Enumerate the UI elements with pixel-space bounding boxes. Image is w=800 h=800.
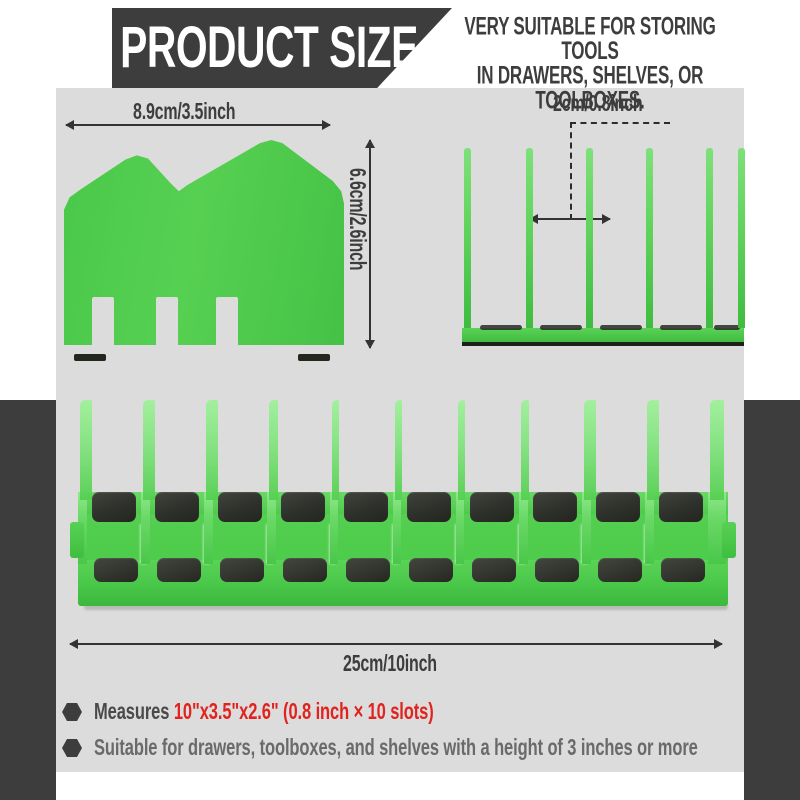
product-upper-pad-3 [218,492,262,522]
product-upper-pad-7 [470,492,514,522]
dark-side-bar-right [744,400,800,800]
front-view-pad-2 [540,325,582,330]
front-view-prong-2 [526,148,533,328]
product-divider-5 [330,492,338,564]
page-title: PRODUCT SIZE [112,0,418,106]
white-margin-top-left [0,0,56,400]
list-item: Measures 10"x3.5"x2.6" (0.8 inch × 10 sl… [62,694,752,730]
product-lower-pad-4 [283,558,327,582]
dimension-group-height: 6.6cm/2.6inch [349,140,409,355]
profile-notch-2 [156,297,178,355]
product-divider-2 [141,492,150,564]
header-subtitle-line-1: VERY SUITABLE FOR STORING TOOLS [436,14,744,63]
product-divider-blade-11 [710,400,724,500]
list-item: Suitable for drawers, toolboxes, and she… [62,730,752,766]
profile-notch-1 [92,297,114,355]
dimension-label-length: 25cm/10inch [343,652,437,678]
profile-notch-3 [216,297,238,355]
hex-bullet-icon [62,739,82,757]
product-upper-pad-8 [533,492,577,522]
product-divider-blade-3 [206,400,218,500]
dimension-label-slot-spacing: 2cm/0.8inch [553,92,642,118]
product-divider-blade-10 [647,400,659,500]
product-lower-pad-6 [409,558,453,582]
product-divider-blade-6 [395,400,402,500]
hex-bullet-icon [62,703,82,721]
leader-line-horizontal [570,122,670,124]
product-divider-6 [393,492,401,564]
dimension-label-width: 8.9cm/3.5inch [133,100,235,126]
product-lower-pad-1 [94,558,138,582]
dark-side-bar-left [0,400,56,800]
feature-bullet-list: Measures 10"x3.5"x2.6" (0.8 inch × 10 sl… [62,694,752,766]
product-divider-blade-5 [332,400,339,500]
dimension-arrow-length [70,643,722,645]
product-end-tab-right [722,522,736,558]
figure-front-view [462,138,744,350]
front-view-prong-1 [464,148,471,328]
front-view-pad-4 [660,325,702,330]
product-upper-pad-9 [596,492,640,522]
front-view-base-rail [462,328,744,342]
dimension-arrow-height [369,140,371,348]
product-divider-blade-9 [584,400,596,500]
front-view-pad-1 [480,325,522,330]
product-divider-blade-4 [269,400,278,500]
front-view-pad-5 [714,325,740,330]
product-divider-8 [519,492,528,564]
white-margin-top-right [744,0,800,400]
product-divider-blade-7 [458,400,465,500]
product-lower-pad-8 [535,558,579,582]
product-divider-4 [267,492,276,564]
product-upper-pad-2 [155,492,199,522]
product-lower-pad-7 [472,558,516,582]
bullet-1-prefix: Measures [94,699,174,725]
header-banner: PRODUCT SIZE VERY SUITABLE FOR STORING T… [56,8,744,88]
front-view-prong-5 [706,148,713,328]
front-view-prong-3 [586,148,593,328]
dimension-arrow-width [66,124,330,126]
product-divider-9 [582,492,591,564]
product-lower-pad-3 [220,558,264,582]
front-view-pad-3 [600,325,642,330]
product-divider-10 [645,492,654,564]
product-upper-pad-5 [344,492,388,522]
front-view-prong-6 [738,148,745,328]
product-divider-7 [456,492,464,564]
product-upper-pad-10 [659,492,703,522]
figure-main-product [70,395,736,610]
product-lower-pad-5 [346,558,390,582]
product-lower-pad-2 [157,558,201,582]
bullet-text-2: Suitable for drawers, toolboxes, and she… [94,735,698,762]
product-upper-pad-6 [407,492,451,522]
product-divider-blade-8 [521,400,529,500]
product-end-tab-left [70,522,84,558]
product-divider-3 [204,492,213,564]
product-divider-blade-1 [80,400,92,500]
bullet-text-1: Measures 10"x3.5"x2.6" (0.8 inch × 10 sl… [94,699,434,726]
front-view-prong-4 [646,148,653,328]
product-upper-pad-4 [281,492,325,522]
bullet-1-highlight: 10"x3.5"x2.6" (0.8 inch × 10 slots) [174,699,434,725]
figure-side-profile [64,140,344,355]
product-lower-pad-9 [598,558,642,582]
profile-foot-right [298,354,330,361]
product-size-infographic: PRODUCT SIZE VERY SUITABLE FOR STORING T… [0,0,800,800]
product-upper-pad-1 [92,492,136,522]
profile-foot-left [74,354,106,361]
dimension-label-height: 6.6cm/2.6inch [343,168,369,270]
product-divider-blade-2 [143,400,155,500]
product-lower-pad-10 [661,558,705,582]
